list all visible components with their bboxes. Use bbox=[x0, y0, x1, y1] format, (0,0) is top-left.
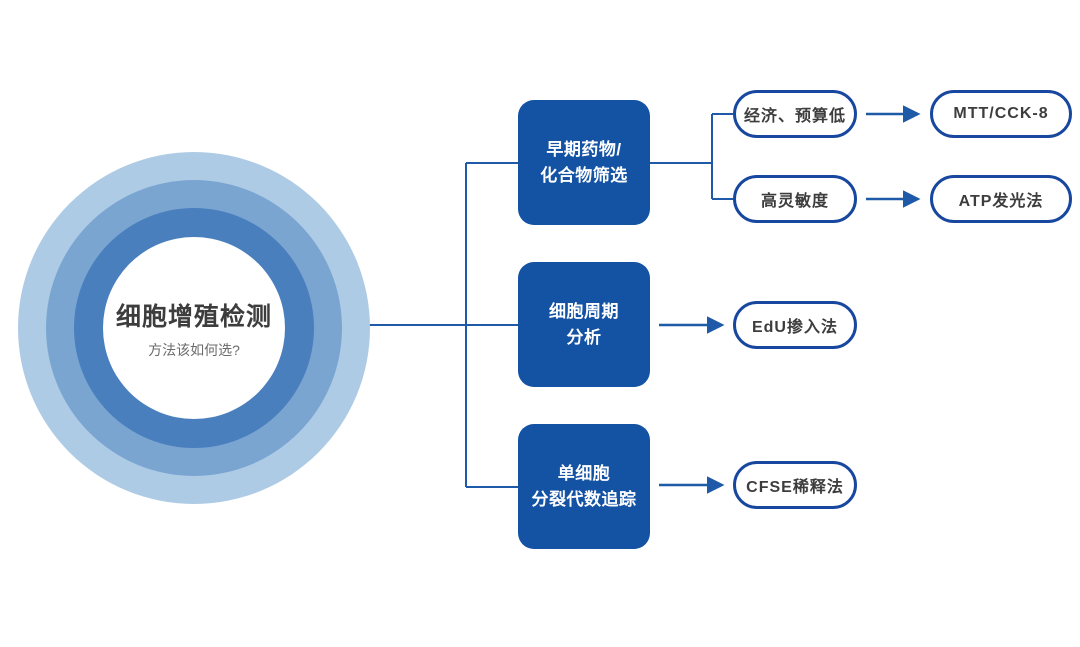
diagram-canvas: 细胞增殖检测 方法该如何选? 早期药物/ 化合物筛选 细胞周期 分析 单细胞 分… bbox=[0, 0, 1080, 647]
branch-0-split-connector bbox=[650, 114, 733, 199]
method-pill-edu-incorporation[interactable]: EdU掺入法 bbox=[733, 301, 857, 349]
method-pill-mtt-cck8[interactable]: MTT/CCK-8 bbox=[930, 90, 1072, 138]
branch-box-line-2: 分析 bbox=[549, 325, 619, 351]
condition-pill-high-sensitivity[interactable]: 高灵敏度 bbox=[733, 175, 857, 223]
branch-box-line-2: 分裂代数追踪 bbox=[532, 487, 637, 513]
condition-pill-low-budget[interactable]: 经济、预算低 bbox=[733, 90, 857, 138]
hub-core: 细胞增殖检测 方法该如何选? bbox=[103, 237, 285, 419]
method-pill-cfse-dilution[interactable]: CFSE稀释法 bbox=[733, 461, 857, 509]
branch-box-single-cell-division[interactable]: 单细胞 分裂代数追踪 bbox=[518, 424, 650, 549]
branch-box-line-2: 化合物筛选 bbox=[540, 163, 628, 189]
central-hub: 细胞增殖检测 方法该如何选? bbox=[18, 152, 370, 504]
branch-box-drug-screening[interactable]: 早期药物/ 化合物筛选 bbox=[518, 100, 650, 225]
branch-box-line-1: 单细胞 bbox=[532, 461, 637, 487]
branch-box-line-1: 细胞周期 bbox=[549, 299, 619, 325]
method-pill-atp-luminescence[interactable]: ATP发光法 bbox=[930, 175, 1072, 223]
branch-box-line-1: 早期药物/ bbox=[540, 137, 628, 163]
hub-subtitle: 方法该如何选? bbox=[148, 340, 240, 360]
hub-title: 细胞增殖检测 bbox=[116, 297, 272, 333]
branch-box-cell-cycle[interactable]: 细胞周期 分析 bbox=[518, 262, 650, 387]
